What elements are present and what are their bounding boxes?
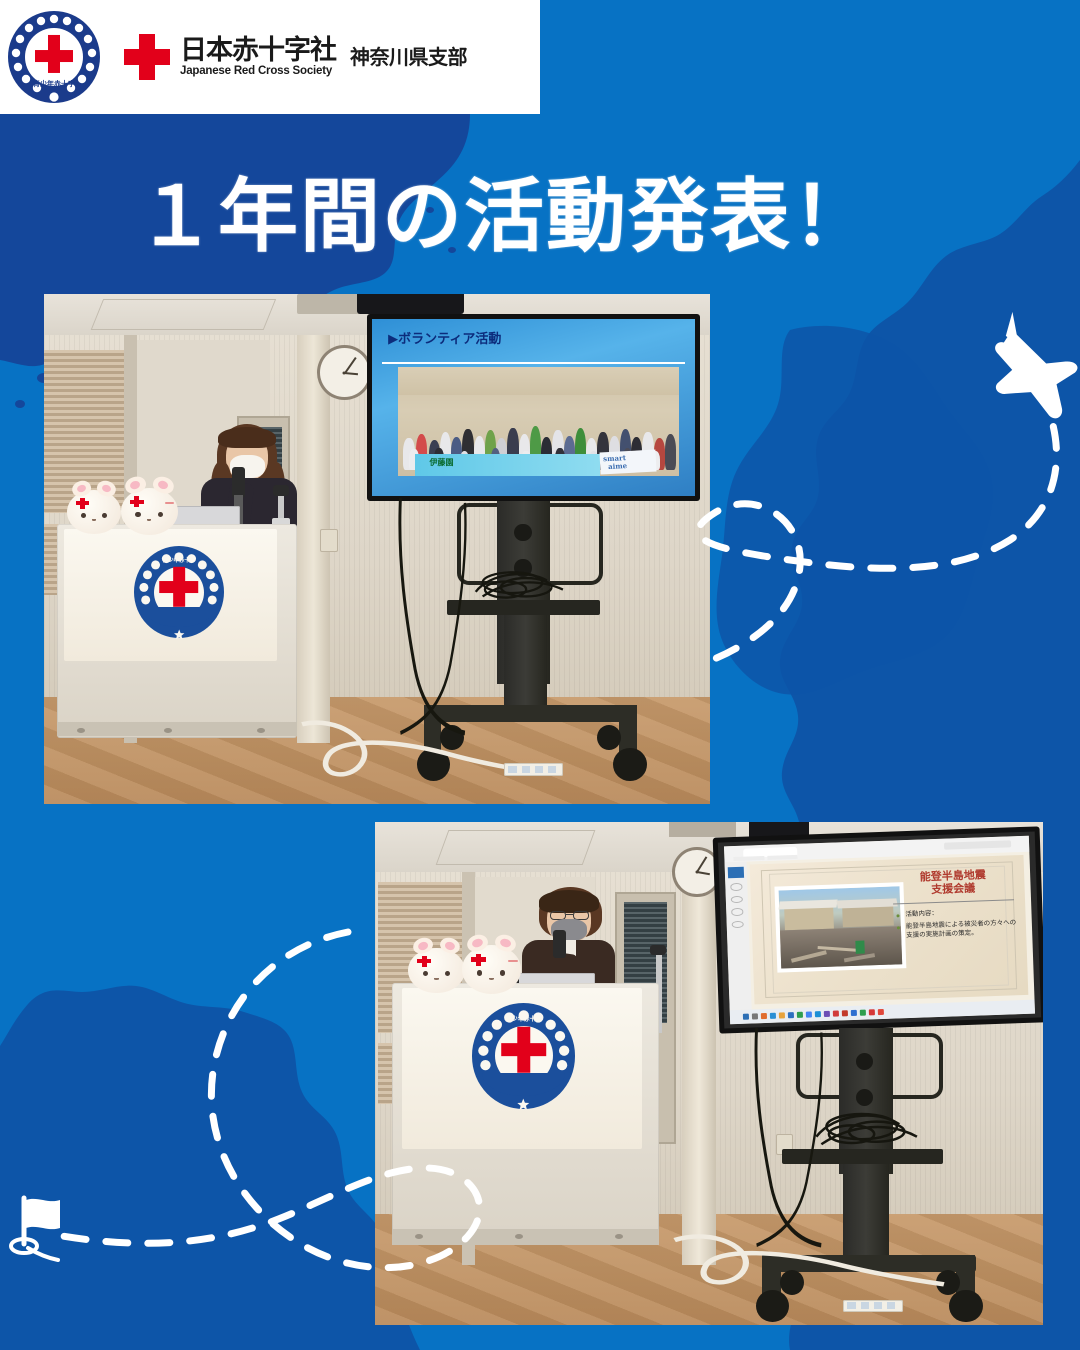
power-strip <box>843 1300 903 1312</box>
slide-bullet: 能登半島地震による被災者の方々への支援の実施計画の策定。 <box>896 918 1020 941</box>
sign-line-2: aime <box>608 462 628 472</box>
mascot-plush <box>121 488 178 535</box>
handwritten-sign: smart aime <box>600 450 657 475</box>
podium-emblem: 青少年赤十字 <box>134 546 224 638</box>
header-logo-bar: 青少年赤十字 日本赤十字社 Japanese Red Cross Society… <box>0 0 540 114</box>
display-screen-2: 能登半島地震 支援会議 活動内容： 能登半島地震による被災者の方々への支援の実施… <box>712 826 1043 1033</box>
emblem-text: 青少年赤十字 <box>134 556 224 564</box>
mascot-plush <box>408 948 464 993</box>
mascot-plush <box>67 490 120 534</box>
slide-bullets: 活動内容： 能登半島地震による被災者の方々への支援の実施計画の策定。 <box>896 906 1020 945</box>
cart-caster <box>949 1290 982 1323</box>
floor-power-cable <box>669 1224 950 1304</box>
display-screen-1: ▶ボランティア活動 <box>367 314 700 500</box>
sponsor-logo-text: 伊藤園 <box>430 457 454 468</box>
powerpoint-window[interactable]: 能登半島地震 支援会議 活動内容： 能登半島地震による被災者の方々への支援の実施… <box>724 836 1035 1025</box>
page-title: １年間の活動発表！ <box>0 152 1010 268</box>
wall-clock <box>317 345 372 400</box>
jrcs-logo: 日本赤十字社 Japanese Red Cross Society <box>124 34 336 80</box>
wall-cable <box>736 1028 883 1254</box>
windows-taskbar[interactable] <box>730 1000 1035 1025</box>
slide-title-1: ▶ボランティア活動 <box>388 328 501 347</box>
poster-canvas: 青少年赤十字 日本赤十字社 Japanese Red Cross Society… <box>0 0 1080 1350</box>
wall-cable <box>377 498 524 743</box>
power-strip <box>504 763 564 776</box>
seal-band-text: 青少年赤十字 <box>33 79 75 89</box>
floor-power-cable <box>297 712 550 794</box>
sponsor-ribbon: 伊藤園 <box>415 454 600 476</box>
photo-presentation-2: 能登半島地震 支援会議 活動内容： 能登半島地震による被災者の方々への支援の実施… <box>375 822 1043 1325</box>
disaster-photo <box>774 882 906 973</box>
photo-presentation-1: ▶ボランティア活動 <box>44 294 710 804</box>
cart-caster <box>613 748 646 781</box>
podium-emblem: 青少年赤十字 <box>472 1003 576 1109</box>
junior-red-cross-seal-icon: 青少年赤十字 <box>6 9 102 105</box>
society-name-en: Japanese Red Cross Society <box>180 65 336 77</box>
microphone <box>232 467 245 498</box>
microphone <box>553 930 566 958</box>
slide-title-2: 能登半島地震 支援会議 <box>889 867 1016 899</box>
branch-name: 神奈川県支部 <box>350 41 467 74</box>
emblem-text: 青少年赤十字 <box>472 1014 576 1023</box>
mascot-plush <box>462 945 521 993</box>
society-name-jp: 日本赤十字社 <box>180 37 336 65</box>
red-cross-icon <box>124 34 170 80</box>
